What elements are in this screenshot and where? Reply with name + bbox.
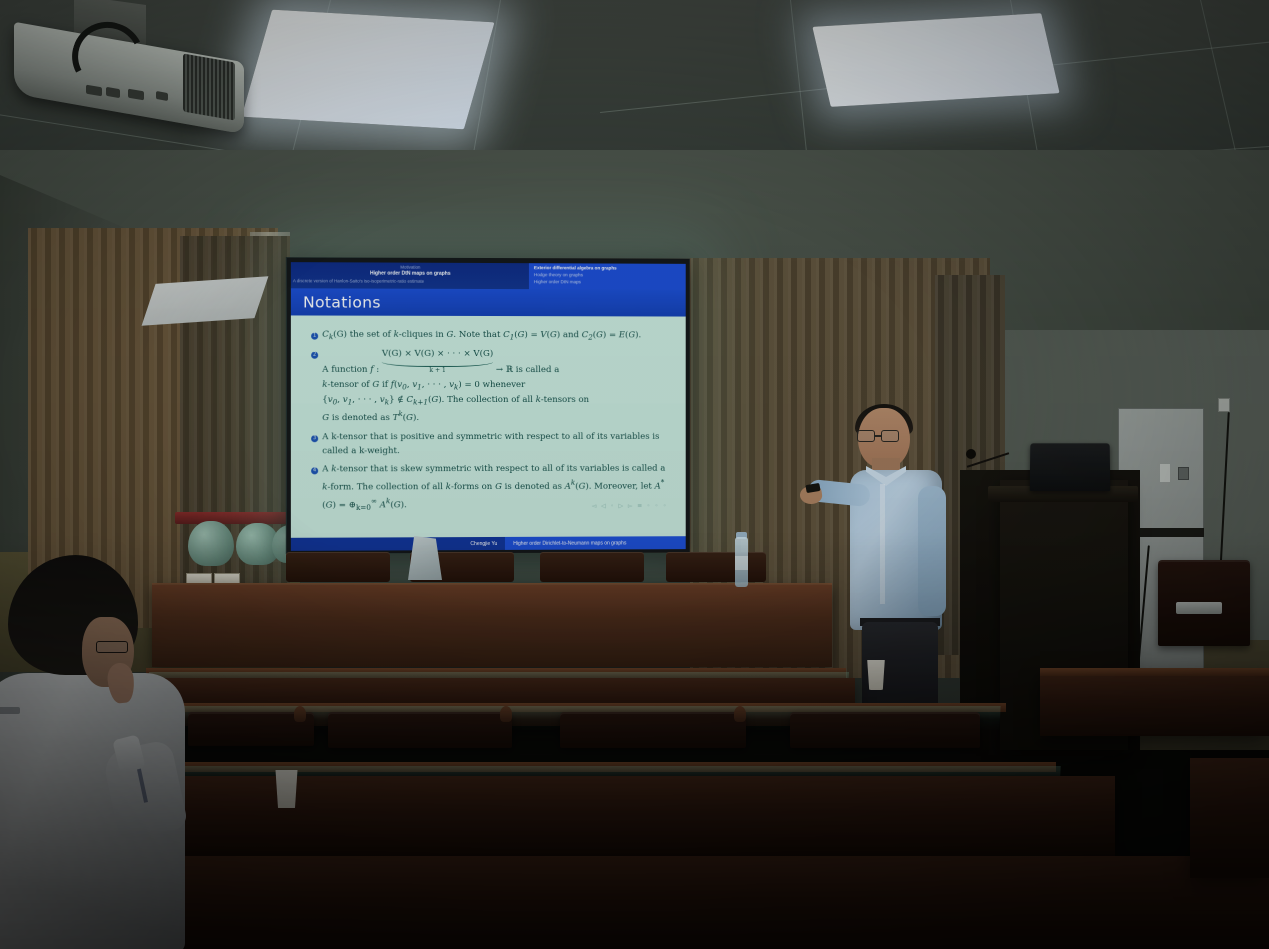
projection-screen: Motivation Higher order DtN maps on grap… bbox=[286, 257, 690, 554]
wall-socket bbox=[1218, 398, 1230, 412]
side-desk-right bbox=[1040, 672, 1269, 736]
slide-bullet: 2 A function f : V(G) × V(G) × · · · × V… bbox=[311, 348, 670, 426]
slide-content: 1 Ck(G) the set of k-cliques in G. Note … bbox=[297, 318, 680, 528]
bench-knob bbox=[294, 706, 306, 722]
side-desk-edge bbox=[1040, 668, 1269, 676]
bullet-number: 3 bbox=[311, 435, 318, 442]
slide-title: Notations bbox=[303, 293, 381, 311]
glasses-icon bbox=[857, 430, 903, 442]
seated-audience-member bbox=[0, 555, 220, 949]
presenter-right-arm bbox=[918, 486, 946, 616]
slide-footer: Chengjie Yu Higher order Dirichlet-to-Ne… bbox=[291, 536, 686, 551]
front-desk bbox=[152, 585, 832, 667]
side-cabinet bbox=[1190, 758, 1269, 878]
ceiling-light-panel-right bbox=[812, 13, 1059, 107]
slide-nav-right: Exterior differential algebra on graphs … bbox=[529, 263, 686, 290]
slide-bullet: 1 Ck(G) the set of k-cliques in G. Note … bbox=[311, 329, 670, 344]
paper-cup-front bbox=[274, 770, 299, 808]
bench-knob bbox=[734, 706, 746, 722]
beamer-slide: Motivation Higher order DtN maps on grap… bbox=[291, 262, 686, 551]
chair-back bbox=[286, 552, 390, 582]
bench-seat bbox=[790, 712, 980, 748]
bench-seat bbox=[328, 712, 512, 748]
bullet-text: Ck(G) the set of k-cliques in G. Note th… bbox=[322, 329, 670, 344]
door-knob bbox=[1178, 467, 1189, 480]
footer-author: Chengjie Yu bbox=[291, 537, 505, 551]
paper-cup-right bbox=[866, 660, 886, 690]
chair-back bbox=[540, 552, 644, 582]
door-sign bbox=[1160, 464, 1170, 482]
projector-lens bbox=[183, 53, 235, 120]
bullet-marker: 1 bbox=[311, 329, 322, 343]
slide-nav-dots: ◅ ◁ ◦ ▷ ▻ ≡ ◦ ◦ ◦ bbox=[592, 502, 668, 512]
slide-navigation-bar: Motivation Higher order DtN maps on grap… bbox=[291, 262, 686, 290]
bullet-text: A function f : V(G) × V(G) × · · · × V(G… bbox=[322, 348, 670, 426]
chair-back bbox=[666, 552, 766, 582]
slide-bullet: 3 A k-tensor that is positive and symmet… bbox=[311, 430, 670, 458]
glasses-lens-left bbox=[857, 430, 875, 442]
bullet-number: 4 bbox=[311, 468, 318, 475]
glasses-icon bbox=[96, 641, 128, 653]
seminar-room-photo: Motivation Higher order DtN maps on grap… bbox=[0, 0, 1269, 949]
underbrace-group: V(G) × V(G) × · · · × V(G)k + 1 bbox=[382, 348, 493, 376]
bullet-marker: 4 bbox=[311, 464, 322, 514]
bench-seat bbox=[560, 712, 746, 748]
jacket-logo bbox=[0, 707, 20, 714]
presenter-laptop bbox=[1030, 443, 1111, 491]
ceiling-light-panel-left bbox=[241, 10, 494, 130]
bullet-number: 1 bbox=[311, 333, 318, 340]
nav-left-line3: A discrete version of Hanlon-Saito's iso… bbox=[293, 278, 527, 285]
shirt-placket bbox=[880, 484, 885, 604]
arrow-to-R: → ℝ is called a bbox=[496, 365, 559, 375]
paper-sheets-on-desk bbox=[142, 276, 269, 326]
bullet-marker: 3 bbox=[311, 431, 322, 459]
underbrace-body: V(G) × V(G) × · · · × V(G) bbox=[382, 349, 493, 359]
slide-title-bar: Notations bbox=[291, 288, 686, 316]
white-object-on-chair bbox=[1176, 602, 1222, 614]
ceiling-projector bbox=[8, 0, 270, 140]
glasses-lens-right bbox=[881, 430, 899, 442]
slide-nav-left: Motivation Higher order DtN maps on grap… bbox=[291, 262, 529, 289]
bullet-marker: 2 bbox=[311, 348, 322, 426]
nav-right-line3: Higher order DtN maps bbox=[534, 279, 683, 287]
bench-knob bbox=[500, 706, 512, 722]
footer-title: Higher order Dirichlet-to-Neumann maps o… bbox=[505, 536, 685, 550]
bottle-label bbox=[735, 556, 748, 570]
bullet-text: A k-tensor that is positive and symmetri… bbox=[322, 430, 670, 458]
bullet-number: 2 bbox=[311, 352, 318, 359]
underbrace-label: k + 1 bbox=[382, 366, 493, 376]
